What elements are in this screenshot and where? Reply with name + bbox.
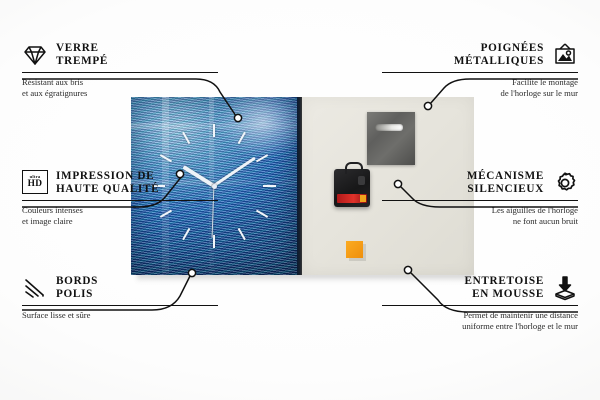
metal-hanger-plate bbox=[367, 112, 415, 165]
callout-rule bbox=[22, 305, 218, 307]
callout-rule bbox=[382, 305, 578, 307]
callout-title: VERRE TREMPÉ bbox=[56, 42, 108, 69]
callout-header: MÉCANISME SILENCIEUX bbox=[382, 170, 578, 197]
mechanism-knob bbox=[358, 176, 365, 185]
gear-icon bbox=[552, 170, 578, 196]
ultra-hd-icon: ultra HD bbox=[22, 170, 48, 196]
callout-header: BORDS POLIS bbox=[22, 275, 218, 302]
callout-description: Couleurs intenses et image claire bbox=[22, 205, 218, 226]
hanger-slot bbox=[375, 124, 403, 131]
callout-header: VERRE TREMPÉ bbox=[22, 42, 218, 69]
mechanism-hook bbox=[345, 162, 363, 174]
callout-header: ultra HD IMPRESSION DE HAUTE QUALITÉ bbox=[22, 170, 218, 197]
callout-header: ENTRETOISE EN MOUSSE bbox=[382, 275, 578, 302]
arrow-down-layer-icon bbox=[552, 275, 578, 301]
callout-title: MÉCANISME SILENCIEUX bbox=[467, 170, 544, 197]
foam-spacer bbox=[346, 241, 363, 258]
callout-description: Surface lisse et sûre bbox=[22, 310, 218, 321]
callout-title: IMPRESSION DE HAUTE QUALITÉ bbox=[56, 170, 159, 197]
callout-description: Permet de maintenir une distance uniform… bbox=[382, 310, 578, 331]
callout-verre-trempe: VERRE TREMPÉ Résistant aux bris et aux é… bbox=[22, 42, 218, 99]
callout-description: Facilite le montage de l'horloge sur le … bbox=[382, 77, 578, 98]
callout-bords-polis: BORDS POLIS Surface lisse et sûre bbox=[22, 275, 218, 321]
callout-rule bbox=[382, 200, 578, 202]
battery bbox=[337, 194, 367, 203]
callout-title: BORDS POLIS bbox=[56, 275, 98, 302]
callout-title: ENTRETOISE EN MOUSSE bbox=[464, 275, 544, 302]
callout-mecanisme-silencieux: MÉCANISME SILENCIEUX Les aiguilles de l'… bbox=[382, 170, 578, 227]
callout-header: POIGNÉES MÉTALLIQUES bbox=[382, 42, 578, 69]
clock-mechanism bbox=[334, 169, 370, 207]
callout-impression-haute-qualite: ultra HD IMPRESSION DE HAUTE QUALITÉ Cou… bbox=[22, 170, 218, 227]
infographic-canvas: VERRE TREMPÉ Résistant aux bris et aux é… bbox=[0, 0, 600, 400]
callout-rule bbox=[382, 72, 578, 74]
hanging-frame-icon bbox=[552, 42, 578, 68]
callout-description: Les aiguilles de l'horloge ne font aucun… bbox=[382, 205, 578, 226]
callout-rule bbox=[22, 200, 218, 202]
callout-entretoise-en-mousse: ENTRETOISE EN MOUSSE Permet de maintenir… bbox=[382, 275, 578, 332]
diamond-icon bbox=[22, 42, 48, 68]
callout-rule bbox=[22, 72, 218, 74]
callout-poignees-metalliques: POIGNÉES MÉTALLIQUES Facilite le montage… bbox=[382, 42, 578, 99]
callout-description: Résistant aux bris et aux égratignures bbox=[22, 77, 218, 98]
callout-title: POIGNÉES MÉTALLIQUES bbox=[454, 42, 544, 69]
polished-edges-icon bbox=[22, 275, 48, 301]
